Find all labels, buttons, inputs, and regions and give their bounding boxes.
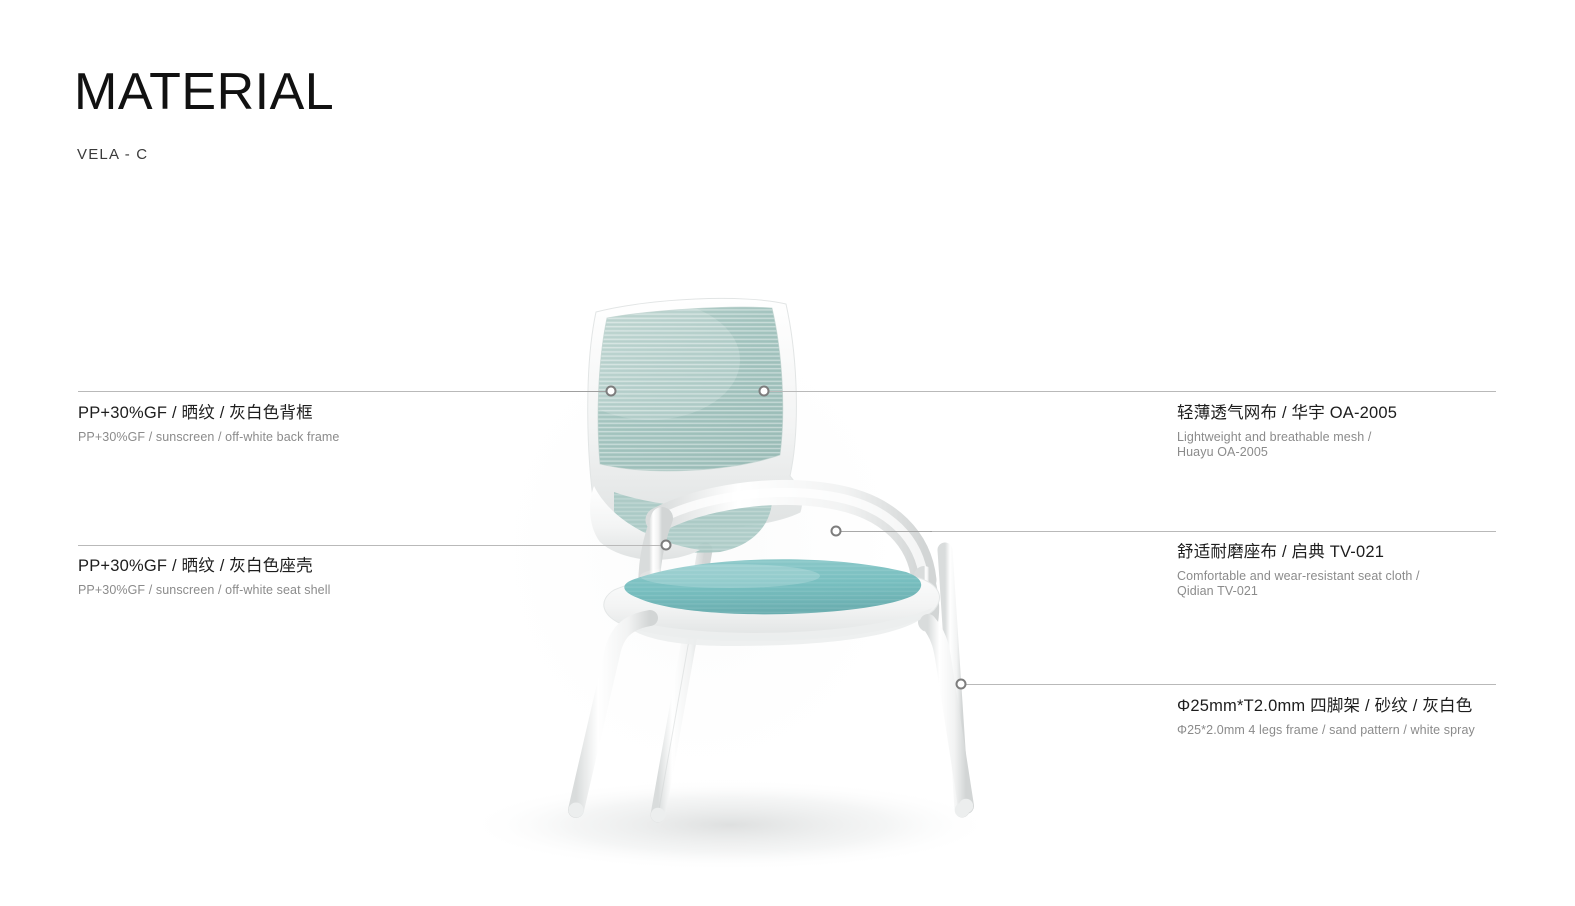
callout-mesh-cn: 轻薄透气网布 / 华宇 OA-2005: [1177, 402, 1397, 424]
callout-seat-cloth-en: Comfortable and wear-resistant seat clot…: [1177, 569, 1420, 599]
callout-seat-shell-cn: PP+30%GF / 晒纹 / 灰白色座壳: [78, 555, 330, 577]
callout-marker-back-frame: [606, 386, 617, 397]
callout-mesh: 轻薄透气网布 / 华宇 OA-2005 Lightweight and brea…: [1177, 402, 1397, 460]
callout-mesh-en: Lightweight and breathable mesh / Huayu …: [1177, 430, 1397, 460]
callout-back-frame: PP+30%GF / 晒纹 / 灰白色背框 PP+30%GF / sunscre…: [78, 402, 339, 445]
callout-rule-row3-right: [963, 684, 1496, 685]
callout-rule-row1-right: [766, 391, 1496, 392]
callout-marker-legs-frame: [956, 679, 967, 690]
callout-back-frame-en: PP+30%GF / sunscreen / off-white back fr…: [78, 430, 339, 445]
callout-legs-frame: Φ25mm*T2.0mm 四脚架 / 砂纹 / 灰白色 Φ25*2.0mm 4 …: [1177, 695, 1475, 738]
callout-seat-shell: PP+30%GF / 晒纹 / 灰白色座壳 PP+30%GF / sunscre…: [78, 555, 330, 598]
callout-rule-row1-left: [78, 391, 609, 392]
callout-rule-row2-left: [78, 545, 666, 546]
callout-legs-frame-cn: Φ25mm*T2.0mm 四脚架 / 砂纹 / 灰白色: [1177, 695, 1475, 717]
chair-illustration: [400, 250, 1080, 870]
callout-seat-shell-en: PP+30%GF / sunscreen / off-white seat sh…: [78, 583, 330, 598]
callout-marker-mesh: [759, 386, 770, 397]
callout-marker-seat-shell: [661, 540, 672, 551]
page-subtitle: VELA - C: [77, 146, 148, 163]
callout-marker-seat-cloth: [831, 526, 842, 537]
callout-seat-cloth: 舒适耐磨座布 / 启典 TV-021 Comfortable and wear-…: [1177, 541, 1420, 599]
leader-line-seat-cloth: [838, 531, 932, 532]
callout-legs-frame-en: Φ25*2.0mm 4 legs frame / sand pattern / …: [1177, 723, 1475, 738]
callout-back-frame-cn: PP+30%GF / 晒纹 / 灰白色背框: [78, 402, 339, 424]
callout-seat-cloth-cn: 舒适耐磨座布 / 启典 TV-021: [1177, 541, 1420, 563]
page-title: MATERIAL: [74, 66, 334, 118]
leader-line-back-frame: [560, 391, 610, 392]
callout-rule-row2-right: [930, 531, 1496, 532]
